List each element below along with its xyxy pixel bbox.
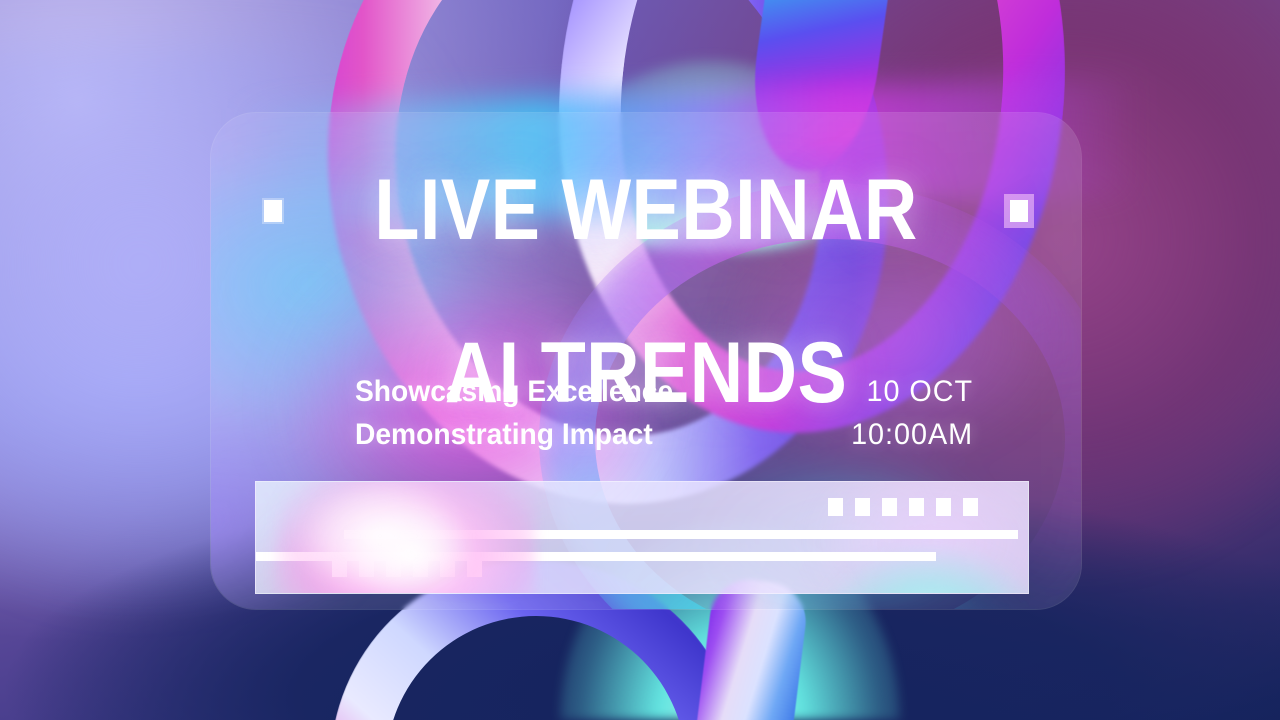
page-title-line1: LIVE WEBINAR bbox=[374, 171, 917, 250]
card-content: LIVE WEBINAR AI TRENDS Showcasing Excell… bbox=[211, 113, 1081, 609]
event-date: 10 OCT bbox=[851, 371, 973, 414]
dot-square-icon bbox=[963, 498, 978, 516]
dot-square-icon bbox=[882, 498, 897, 516]
poster-canvas: LIVE WEBINAR AI TRENDS Showcasing Excell… bbox=[0, 0, 1280, 720]
info-row: Showcasing Excellence Demonstrating Impa… bbox=[355, 371, 973, 456]
square-marker-left-icon bbox=[264, 200, 282, 222]
dot-square-icon bbox=[936, 498, 951, 516]
tagline-line-1: Showcasing Excellence bbox=[355, 371, 673, 414]
square-marker-right-icon bbox=[1010, 200, 1028, 222]
bottom-panel bbox=[255, 481, 1029, 594]
glass-card: LIVE WEBINAR AI TRENDS Showcasing Excell… bbox=[210, 112, 1082, 610]
tagline-block: Showcasing Excellence Demonstrating Impa… bbox=[355, 371, 673, 456]
headline-row: LIVE WEBINAR bbox=[211, 171, 1081, 250]
datetime-block: 10 OCT 10:00AM bbox=[851, 371, 973, 456]
dot-square-icon bbox=[909, 498, 924, 516]
dot-square-icon bbox=[828, 498, 843, 516]
tagline-line-2: Demonstrating Impact bbox=[355, 414, 673, 457]
event-time: 10:00AM bbox=[851, 414, 973, 457]
dot-row-top-right bbox=[828, 498, 978, 516]
dot-square-icon bbox=[855, 498, 870, 516]
panel-glow-pink-core bbox=[276, 481, 536, 594]
